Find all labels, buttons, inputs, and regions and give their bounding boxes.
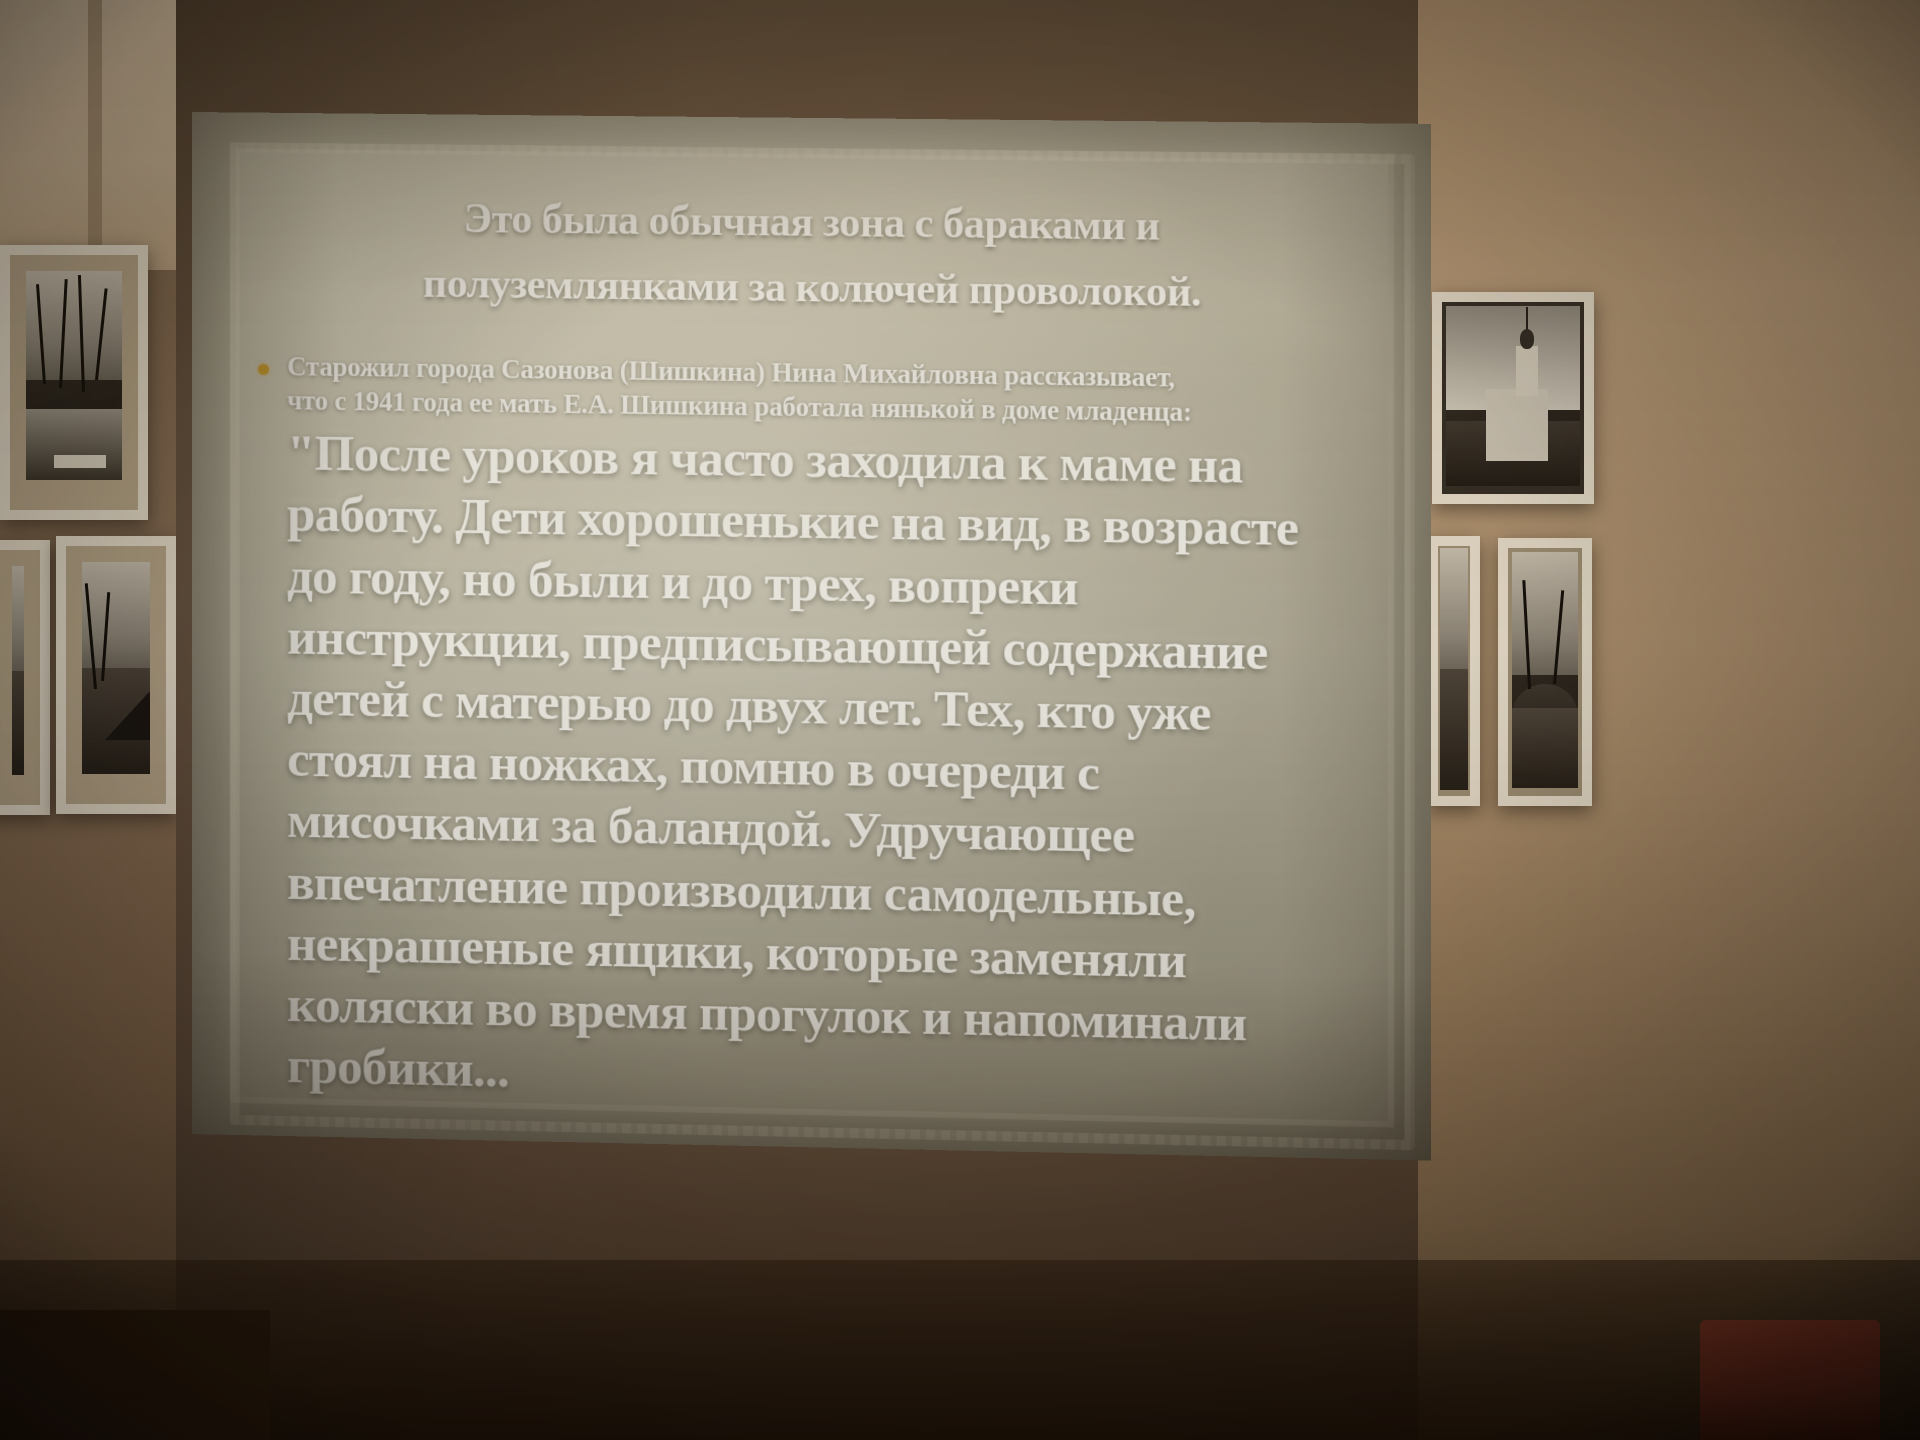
foreground-red-object [1700, 1320, 1880, 1440]
slide-title-line-1: Это была обычная зона с бараками и [272, 185, 1355, 262]
slide-bullet-item: Старожил города Сазонова (Шишкина) Нина … [258, 349, 1369, 432]
church-tower-shape [1516, 346, 1539, 396]
framed-photo-church [1432, 292, 1594, 504]
photo-sky [12, 566, 24, 675]
photo-ground [12, 671, 24, 776]
right-wall [1415, 0, 1920, 1440]
framed-photo-landscape-right [1428, 536, 1480, 806]
photo-image [1440, 548, 1468, 790]
bullet-dot-icon [258, 364, 269, 375]
exhibition-hall-scene: Это была обычная зона с бараками и полуз… [0, 0, 1920, 1440]
slide-quote-body: "После уроков я часто заходила к маме на… [287, 423, 1369, 1120]
photo-image [82, 562, 150, 774]
framed-photo-partial-left [0, 540, 50, 815]
photo-ground [1512, 708, 1578, 788]
floor [0, 1260, 1920, 1440]
church-body-shape [1486, 389, 1548, 461]
photo-sky [1512, 552, 1578, 675]
photo-water [26, 409, 122, 480]
photo-image [26, 271, 122, 480]
photo-sky [1440, 548, 1468, 674]
church-cross-icon [1526, 307, 1528, 329]
slide-content: Это была обычная зона с бараками и полуз… [258, 185, 1369, 1120]
photo-image [1446, 306, 1580, 486]
slide-bullet-text: Старожил города Сазонова (Шишкина) Нина … [287, 349, 1192, 429]
photo-ground [1440, 669, 1468, 790]
framed-photo-wooden-house [56, 536, 176, 814]
left-wall-seam [88, 0, 102, 268]
foreground-dark-base [0, 1310, 270, 1440]
framed-photo-winter-river [0, 245, 148, 520]
church-dome-shape [1520, 329, 1535, 349]
house-roof-shape [105, 692, 150, 740]
photo-caption-tag [54, 455, 106, 468]
photo-image [1512, 552, 1578, 788]
slide-title: Это была обычная зона с бараками и полуз… [272, 185, 1355, 328]
slide-title-line-2: полуземлянками за колючей проволокой. [272, 250, 1355, 328]
framed-photo-landscape-far-right [1498, 538, 1592, 806]
photo-image [12, 566, 24, 775]
projected-slide: Это была обычная зона с бараками и полуз… [192, 112, 1431, 1161]
